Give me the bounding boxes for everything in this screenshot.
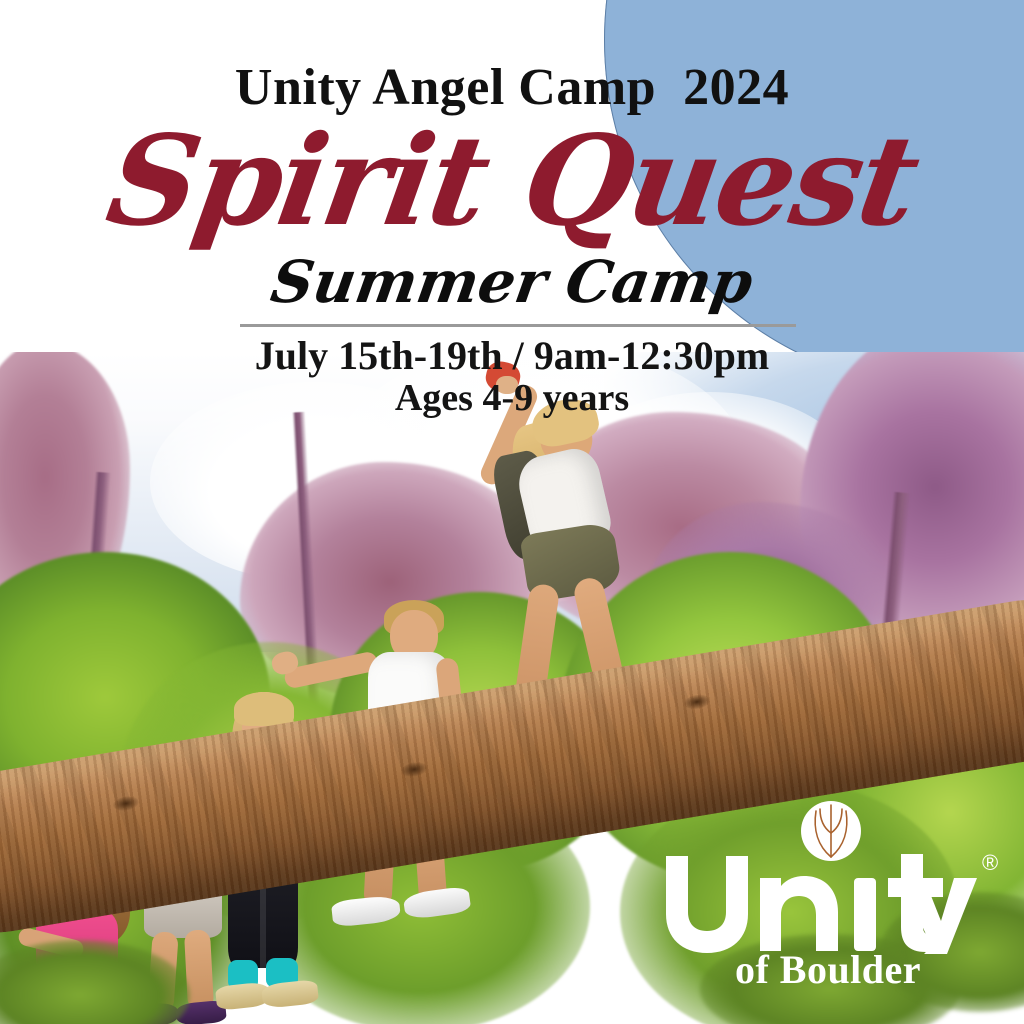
headline-block: Unity Angel Camp 2024 Spirit Quest Summe…	[0, 0, 1024, 430]
hair-front	[234, 692, 294, 726]
registered-trademark-icon: ®	[982, 850, 998, 876]
camp-flyer: Unity Angel Camp 2024 Spirit Quest Summe…	[0, 0, 1024, 1024]
subheadline-script: Summer Camp	[0, 248, 1024, 316]
unity-wordmark	[662, 842, 992, 954]
dates-and-times: July 15th-19th / 9am-12:30pm	[0, 334, 1024, 379]
age-range: Ages 4-9 years	[0, 376, 1024, 420]
unity-of-boulder-logo: ® of Boulder	[652, 798, 1024, 1004]
headline-script: Spirit Quest	[0, 120, 1024, 244]
divider-rule	[240, 324, 796, 327]
logo-sublabel: of Boulder	[652, 946, 1004, 993]
